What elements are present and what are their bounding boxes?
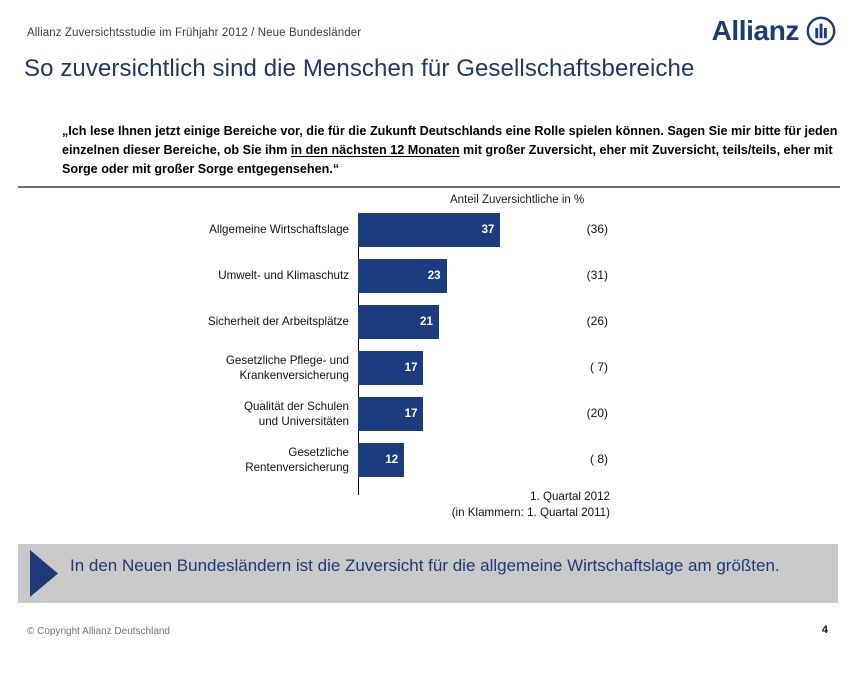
footer-copyright: © Copyright Allianz Deutschland: [27, 626, 170, 637]
previous-year-value: (26): [548, 314, 608, 328]
category-label: Umwelt- und Klimaschutz: [89, 269, 349, 284]
slide-eyebrow: Allianz Zuversichtsstudie im Frühjahr 20…: [27, 27, 361, 39]
bar-value-label: 17: [405, 408, 418, 420]
category-label-line: Sicherheit der Arbeitsplätze: [89, 315, 349, 330]
footer-page-number: 4: [822, 624, 828, 636]
previous-year-value: (36): [548, 222, 608, 236]
question-underlined: in den nächsten 12 Monaten: [291, 143, 460, 157]
bar-value-label: 37: [482, 224, 495, 236]
chart-bar: 12: [358, 443, 404, 477]
category-label: Allgemeine Wirtschaftslage: [89, 223, 349, 238]
chart-row: Gesetzliche Pflege- undKrankenversicheru…: [0, 351, 858, 397]
category-label-line: Krankenversicherung: [89, 369, 349, 384]
page-title: So zuversichtlich sind die Menschen für …: [24, 55, 694, 83]
category-label-line: Umwelt- und Klimaschutz: [89, 269, 349, 284]
bar-value-label: 12: [385, 454, 398, 466]
category-label-line: Gesetzliche: [89, 446, 349, 461]
category-label: GesetzlicheRentenversicherung: [89, 446, 349, 475]
source-note-line-2: (in Klammern: 1. Quartal 2011): [370, 505, 610, 521]
category-label: Qualität der Schulenund Universitäten: [89, 400, 349, 429]
category-label: Sicherheit der Arbeitsplätze: [89, 315, 349, 330]
allianz-logo: Allianz: [712, 16, 836, 46]
previous-year-value: (20): [548, 406, 608, 420]
survey-question: „Ich lese Ihnen jetzt einige Bereiche vo…: [62, 122, 844, 179]
chart-unit-label: Anteil Zuversichtliche in %: [450, 194, 584, 206]
chart-row: GesetzlicheRentenversicherung12( 8): [0, 443, 858, 489]
allianz-wordmark: Allianz: [712, 17, 799, 45]
category-label-line: Qualität der Schulen: [89, 400, 349, 415]
chart-bar: 37: [358, 213, 500, 247]
chart-bar: 23: [358, 259, 447, 293]
category-label: Gesetzliche Pflege- undKrankenversicheru…: [89, 354, 349, 383]
category-label-line: und Universitäten: [89, 415, 349, 430]
key-message-text: In den Neuen Bundesländern ist die Zuver…: [70, 554, 815, 578]
bar-value-label: 23: [428, 270, 441, 282]
bar-value-label: 21: [420, 316, 433, 328]
chart-bar: 21: [358, 305, 439, 339]
chart-bar: 17: [358, 397, 423, 431]
slide-canvas: Allianz Zuversichtsstudie im Frühjahr 20…: [0, 0, 858, 673]
source-note-line-1: 1. Quartal 2012: [370, 489, 610, 505]
bar-value-label: 17: [405, 362, 418, 374]
category-label-line: Rentenversicherung: [89, 461, 349, 476]
chart-source-note: 1. Quartal 2012 (in Klammern: 1. Quartal…: [370, 489, 610, 521]
chart-bar: 17: [358, 351, 423, 385]
previous-year-value: (31): [548, 268, 608, 282]
category-label-line: Gesetzliche Pflege- und: [89, 354, 349, 369]
header-divider: [18, 186, 840, 188]
chart-row: Qualität der Schulenund Universitäten17(…: [0, 397, 858, 443]
allianz-bars-circle-icon: [806, 16, 836, 46]
chevron-right-icon: [28, 548, 62, 599]
previous-year-value: ( 7): [548, 360, 608, 374]
category-label-line: Allgemeine Wirtschaftslage: [89, 223, 349, 238]
key-message-banner: In den Neuen Bundesländern ist die Zuver…: [18, 544, 838, 603]
chart-row: Allgemeine Wirtschaftslage37(36): [0, 213, 858, 259]
chart-row: Umwelt- und Klimaschutz23(31): [0, 259, 858, 305]
previous-year-value: ( 8): [548, 452, 608, 466]
chart-row: Sicherheit der Arbeitsplätze21(26): [0, 305, 858, 351]
